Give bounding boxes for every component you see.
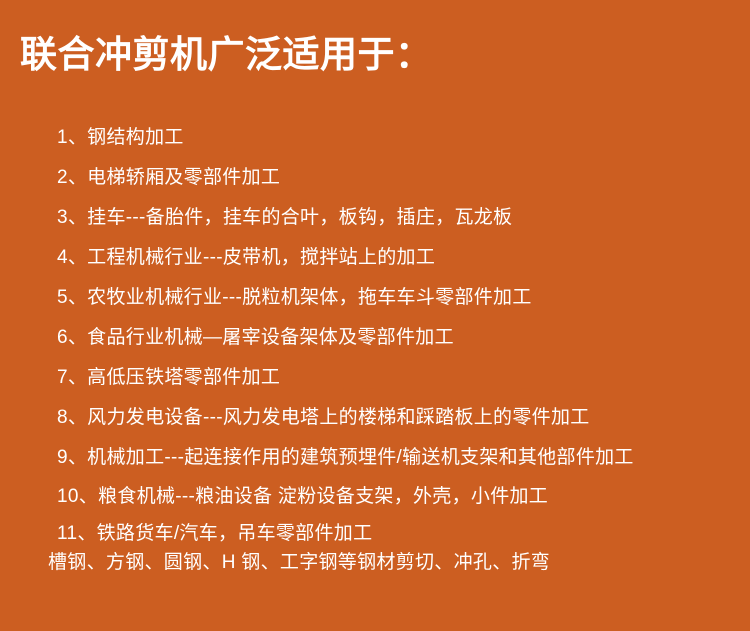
list-item: 7、高低压铁塔零部件加工: [57, 358, 737, 398]
list-item: 3、挂车---备胎件，挂车的合叶，板钩，插庄，瓦龙板: [57, 198, 737, 238]
promo-banner: 联合冲剪机广泛适用于： 1、钢结构加工 2、电梯轿厢及零部件加工 3、挂车---…: [0, 0, 750, 631]
application-list: 1、钢结构加工 2、电梯轿厢及零部件加工 3、挂车---备胎件，挂车的合叶，板钩…: [57, 118, 737, 552]
list-item: 9、机械加工---起连接作用的建筑预埋件/输送机支架和其他部件加工: [57, 438, 737, 478]
materials-note: 槽钢、方钢、圆钢、H 钢、工字钢等钢材剪切、冲孔、折弯: [48, 549, 550, 577]
page-title: 联合冲剪机广泛适用于：: [20, 33, 433, 77]
list-item: 1、钢结构加工: [57, 118, 737, 158]
list-item: 4、工程机械行业---皮带机，搅拌站上的加工: [57, 238, 737, 278]
list-item: 8、风力发电设备---风力发电塔上的楼梯和踩踏板上的零件加工: [57, 398, 737, 438]
list-item: 11、铁路货车/汽车，吊车零部件加工: [57, 515, 737, 552]
list-item: 10、粮食机械---粮油设备 淀粉设备支架，外壳，小件加工: [57, 478, 737, 515]
list-item: 6、食品行业机械—屠宰设备架体及零部件加工: [57, 318, 737, 358]
list-item: 2、电梯轿厢及零部件加工: [57, 158, 737, 198]
list-item: 5、农牧业机械行业---脱粒机架体，拖车车斗零部件加工: [57, 278, 737, 318]
